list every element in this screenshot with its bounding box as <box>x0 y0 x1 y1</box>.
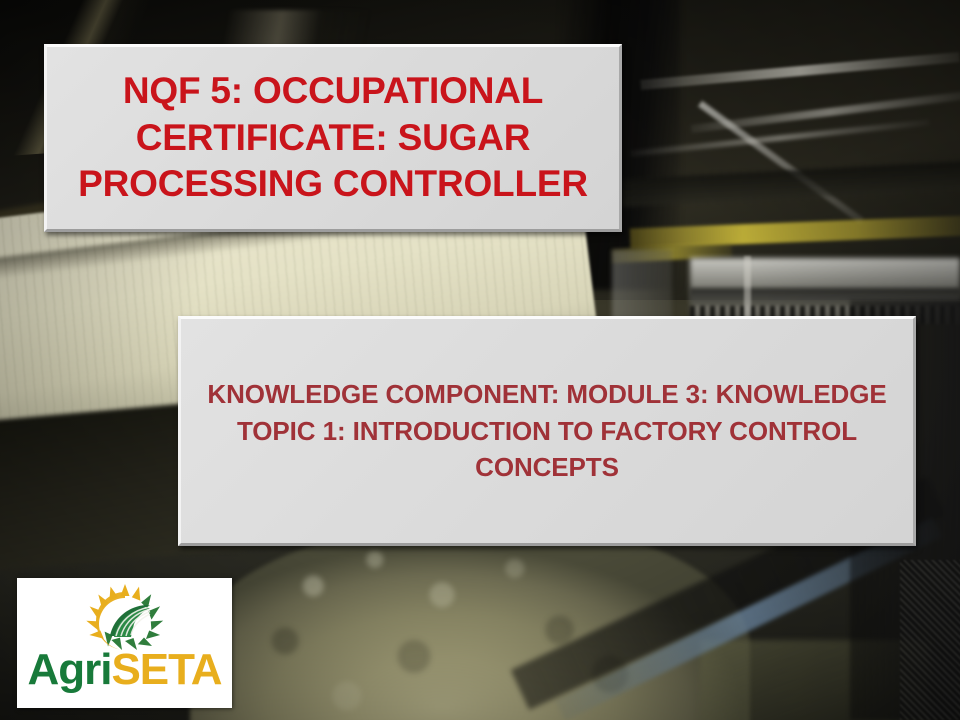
agriseta-logo: AgriSETA <box>17 578 232 708</box>
page-title: NQF 5: OCCUPATIONAL CERTIFICATE: SUGAR P… <box>47 68 619 209</box>
presentation-slide: NQF 5: OCCUPATIONAL CERTIFICATE: SUGAR P… <box>0 0 960 720</box>
wordmark-agri: Agri <box>27 645 111 694</box>
title-panel: NQF 5: OCCUPATIONAL CERTIFICATE: SUGAR P… <box>44 44 622 232</box>
wordmark-seta: SETA <box>111 645 221 694</box>
subtitle-panel: KNOWLEDGE COMPONENT: MODULE 3: KNOWLEDGE… <box>178 316 916 546</box>
sun-and-field-icon <box>82 584 168 650</box>
module-subtitle: KNOWLEDGE COMPONENT: MODULE 3: KNOWLEDGE… <box>181 376 913 487</box>
agriseta-wordmark: AgriSETA <box>27 648 221 692</box>
